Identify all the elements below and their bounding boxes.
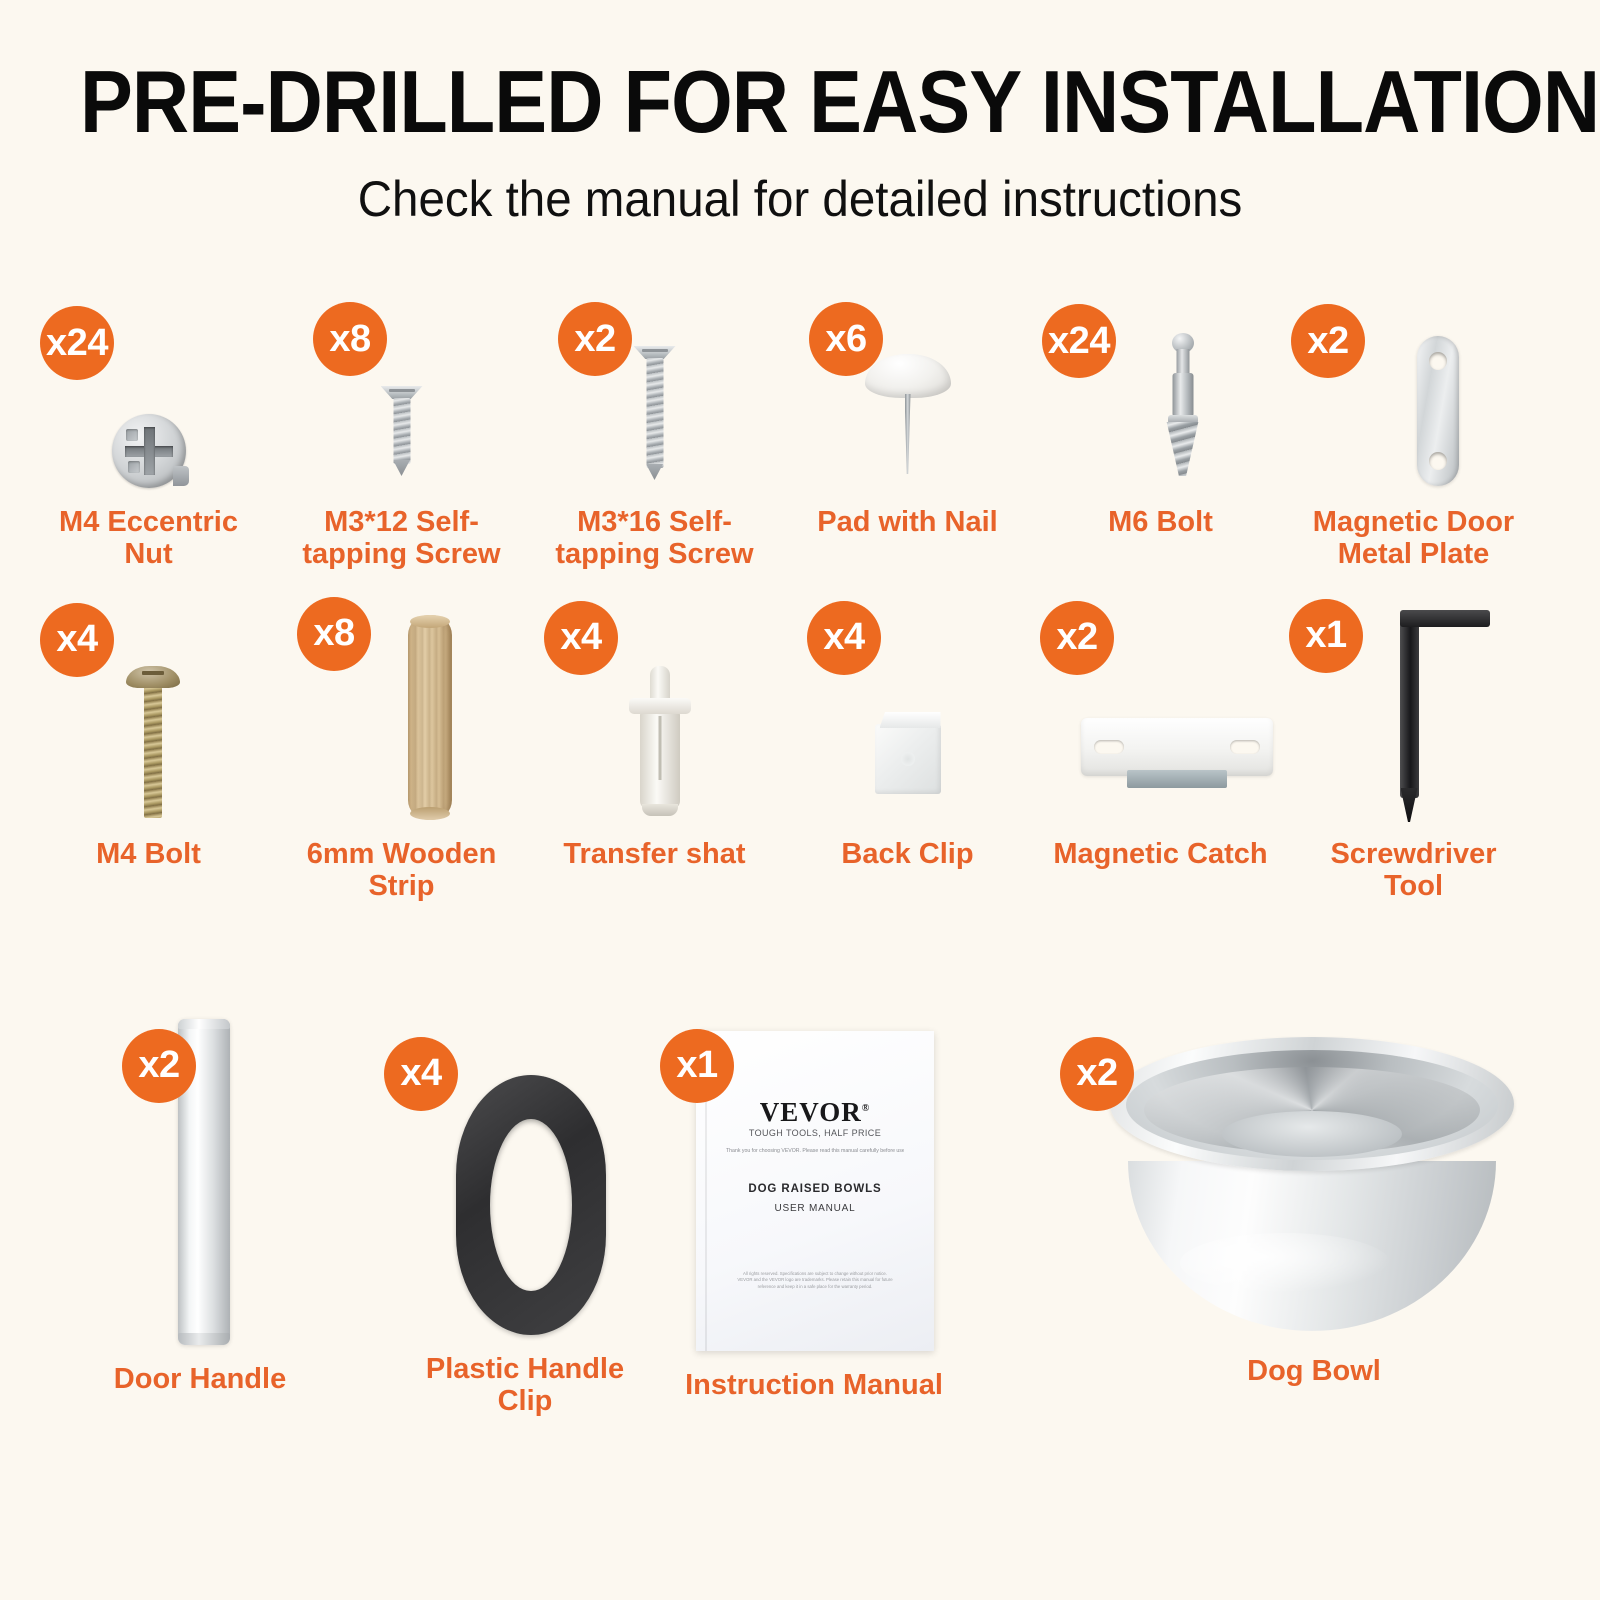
quantity-badge: x1 bbox=[660, 1029, 734, 1103]
part-artwork: x4 bbox=[22, 607, 275, 822]
part-label: Screwdriver Tool bbox=[1306, 838, 1521, 903]
part-label: Back Clip bbox=[800, 838, 1015, 870]
manual-product-name: DOG RAISED BOWLS bbox=[696, 1183, 934, 1195]
part-artwork: x2 bbox=[152, 1015, 230, 1345]
part-label: 6mm Wooden Strip bbox=[294, 838, 509, 903]
part-door-handle[interactable]: x2 Door Handle bbox=[52, 1015, 330, 1395]
part-label: Dog Bowl bbox=[1184, 1355, 1444, 1387]
cam-nut-icon bbox=[112, 414, 186, 488]
header-block: PRE-DRILLED FOR EASY INSTALLATION Check … bbox=[0, 0, 1600, 228]
part-artwork: x24 bbox=[22, 310, 275, 490]
part-screwdriver-tool[interactable]: x1 Screwdriver Tool bbox=[1287, 607, 1540, 903]
transfer-shaft-icon bbox=[629, 666, 691, 816]
part-m3x16-screw[interactable]: x2 M3*16 Self-tapping Screw bbox=[528, 310, 781, 571]
part-artwork: x2 bbox=[1034, 607, 1287, 822]
part-m6-bolt[interactable]: x24 M6 Bolt bbox=[1034, 310, 1287, 571]
quantity-badge: x4 bbox=[544, 601, 618, 675]
cam-bolt-icon bbox=[1154, 333, 1212, 488]
part-plastic-handle-clip[interactable]: x4 Plastic Handle Clip bbox=[368, 1029, 640, 1418]
manual-brand: VEVOR® bbox=[696, 1097, 934, 1128]
part-artwork: x1 bbox=[1287, 607, 1540, 822]
part-artwork: x1 VEVOR® TOUGH TOOLS, HALF PRICE Thank … bbox=[650, 1025, 934, 1351]
quantity-badge: x1 bbox=[1289, 599, 1363, 673]
part-back-clip[interactable]: x4 Back Clip bbox=[781, 607, 1034, 903]
part-dog-bowl[interactable]: x2 Dog Bowl bbox=[1036, 1029, 1514, 1387]
quantity-badge: x4 bbox=[807, 601, 881, 675]
part-label: Magnetic Catch bbox=[1053, 838, 1268, 870]
part-artwork: x8 bbox=[275, 310, 528, 490]
part-transfer-shat[interactable]: x4 Transfer shat bbox=[528, 607, 781, 903]
part-label: Plastic Handle Clip bbox=[410, 1353, 640, 1418]
part-6mm-wooden-strip[interactable]: x8 6mm Wooden Strip bbox=[275, 607, 528, 903]
part-label: Transfer shat bbox=[547, 838, 762, 870]
parts-row-1: x24 M4 Eccentric Nut x8 M3*12 Self-tappi… bbox=[22, 310, 1600, 571]
quantity-badge: x8 bbox=[297, 597, 371, 671]
brass-bolt-icon bbox=[126, 666, 180, 818]
part-artwork: x4 bbox=[402, 1029, 606, 1335]
part-artwork: x2 bbox=[1287, 310, 1540, 490]
part-label: Magnetic Door Metal Plate bbox=[1306, 506, 1521, 571]
part-label: M6 Bolt bbox=[1053, 506, 1268, 538]
oval-gasket-icon bbox=[456, 1075, 606, 1335]
quantity-badge: x6 bbox=[809, 302, 883, 376]
part-m4-bolt[interactable]: x4 M4 Bolt bbox=[22, 607, 275, 903]
part-label: Door Handle bbox=[70, 1363, 330, 1395]
part-label: Instruction Manual bbox=[684, 1369, 944, 1401]
part-label: Pad with Nail bbox=[800, 506, 1015, 538]
quantity-badge: x2 bbox=[1040, 601, 1114, 675]
part-artwork: x24 bbox=[1034, 310, 1287, 490]
screw-icon bbox=[379, 386, 425, 482]
part-artwork: x8 bbox=[275, 607, 528, 822]
part-instruction-manual[interactable]: x1 VEVOR® TOUGH TOOLS, HALF PRICE Thank … bbox=[640, 1025, 944, 1401]
part-artwork: x6 bbox=[781, 310, 1034, 490]
part-label: M4 Eccentric Nut bbox=[41, 506, 256, 571]
part-artwork: x4 bbox=[781, 607, 1034, 822]
part-label: M3*16 Self-tapping Screw bbox=[547, 506, 762, 571]
metal-plate-icon bbox=[1417, 336, 1459, 486]
quantity-badge: x2 bbox=[1060, 1037, 1134, 1111]
back-clip-icon bbox=[875, 712, 941, 794]
page-title: PRE-DRILLED FOR EASY INSTALLATION bbox=[80, 58, 1520, 146]
part-label: M4 Bolt bbox=[41, 838, 256, 870]
quantity-badge: x24 bbox=[40, 306, 114, 380]
quantity-badge: x4 bbox=[384, 1037, 458, 1111]
parts-grid: x24 M4 Eccentric Nut x8 M3*12 Self-tappi… bbox=[0, 310, 1600, 1445]
manual-brand-text: VEVOR bbox=[760, 1097, 862, 1127]
part-artwork: x2 bbox=[528, 310, 781, 490]
parts-row-3: x2 Door Handle x4 Plastic Handle Clip x1 bbox=[0, 1015, 1600, 1445]
part-m4-eccentric-nut[interactable]: x24 M4 Eccentric Nut bbox=[22, 310, 275, 571]
part-pad-with-nail[interactable]: x6 Pad with Nail bbox=[781, 310, 1034, 571]
manual-footer-text: All rights reserved. Specifications are … bbox=[736, 1271, 894, 1290]
manual-fine-line: Thank you for choosing VEVOR. Please rea… bbox=[726, 1148, 904, 1155]
quantity-badge: x4 bbox=[40, 603, 114, 677]
screw-icon bbox=[632, 346, 678, 486]
part-artwork: x2 bbox=[1036, 1029, 1514, 1337]
manual-tagline: TOUGH TOOLS, HALF PRICE bbox=[696, 1128, 934, 1138]
manual-doc-type: USER MANUAL bbox=[696, 1203, 934, 1214]
quantity-badge: x2 bbox=[122, 1029, 196, 1103]
allen-key-icon bbox=[1382, 610, 1490, 822]
part-m3x12-screw[interactable]: x8 M3*12 Self-tapping Screw bbox=[275, 310, 528, 571]
quantity-badge: x24 bbox=[1042, 304, 1116, 378]
pad-nail-icon bbox=[865, 354, 951, 486]
page-subtitle: Check the manual for detailed instructio… bbox=[40, 170, 1560, 228]
wooden-dowel-icon bbox=[408, 615, 452, 820]
magnetic-catch-icon bbox=[1081, 718, 1273, 792]
quantity-badge: x8 bbox=[313, 302, 387, 376]
manual-trademark: ® bbox=[862, 1103, 870, 1114]
part-magnetic-door-metal-plate[interactable]: x2 Magnetic Door Metal Plate bbox=[1287, 310, 1540, 571]
part-artwork: x4 bbox=[528, 607, 781, 822]
dog-bowl-icon bbox=[1110, 1037, 1514, 1337]
part-magnetic-catch[interactable]: x2 Magnetic Catch bbox=[1034, 607, 1287, 903]
parts-row-2: x4 M4 Bolt x8 6mm Wooden Strip x4 bbox=[22, 607, 1600, 903]
quantity-badge: x2 bbox=[558, 302, 632, 376]
part-label: M3*12 Self-tapping Screw bbox=[294, 506, 509, 571]
quantity-badge: x2 bbox=[1291, 304, 1365, 378]
